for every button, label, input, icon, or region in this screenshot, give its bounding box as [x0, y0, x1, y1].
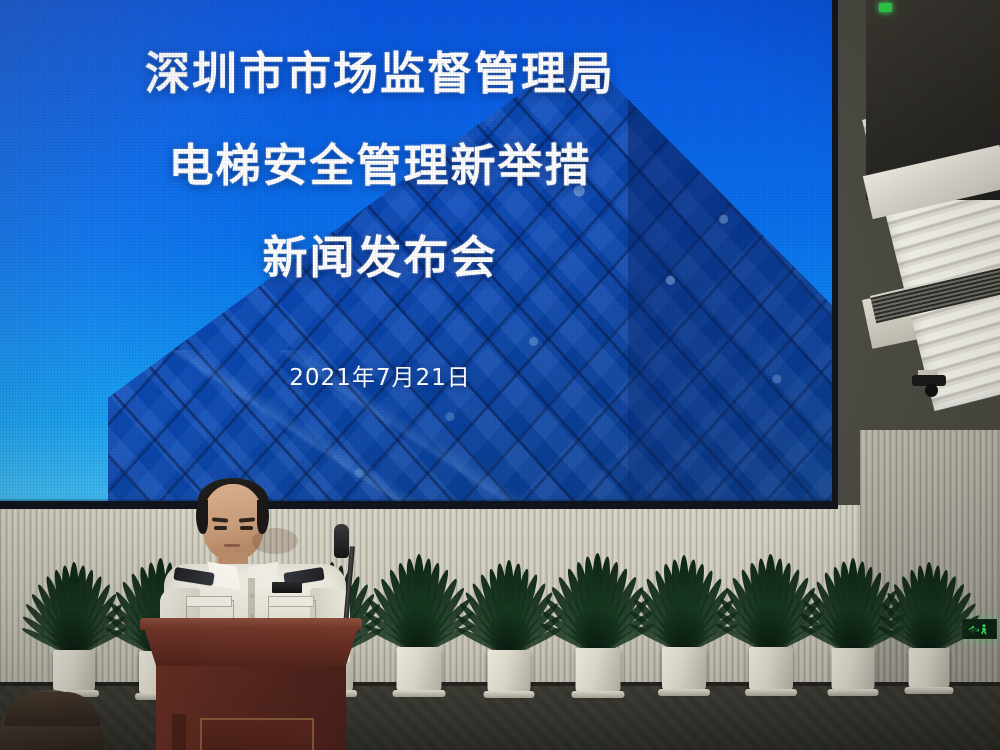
podium-front-bevel: [144, 628, 358, 668]
podium-side-shadow: [172, 714, 186, 750]
speaker-pocket-flap-left: [186, 596, 232, 607]
slide-title-line-2: 电梯安全管理新举措: [0, 140, 760, 192]
slide-title-line-3: 新闻发布会: [0, 232, 760, 284]
speaker-name-badge: [272, 582, 302, 593]
screen-bottom-shadow: [0, 498, 838, 509]
plant-pot: [488, 650, 531, 693]
plant-pot: [749, 647, 793, 691]
speaker-eye-right: [240, 526, 253, 530]
plant-pot: [909, 648, 950, 689]
speaker-pocket-flap-right: [268, 596, 314, 607]
plant-pot: [53, 650, 95, 692]
potted-plant: [548, 550, 647, 693]
potted-plant: [28, 560, 120, 692]
microphone-head: [334, 524, 349, 558]
speaker-hair-left: [196, 500, 208, 534]
plant-pot: [575, 648, 620, 693]
speaker-eye-left: [214, 526, 227, 530]
security-camera-icon: [912, 370, 946, 400]
potted-plant: [722, 552, 819, 691]
wooden-podium: [140, 618, 362, 750]
slide-title-line-1: 深圳市市场监督管理局: [0, 48, 760, 100]
camera-lens: [925, 384, 938, 397]
plant-foliage: [884, 560, 974, 652]
plant-pot: [662, 647, 706, 691]
slide-date: 2021年7月21日: [0, 358, 760, 392]
potted-plant: [370, 552, 468, 692]
plant-foliage: [28, 560, 120, 654]
plant-foliage: [548, 550, 647, 652]
speaker-head: [202, 484, 264, 560]
plant-pot: [832, 648, 875, 691]
speaker-shirt-button: [250, 594, 254, 598]
plant-pot: [397, 647, 442, 692]
screenshot-root: 深圳市市场监督管理局 电梯安全管理新举措 新闻发布会 2021年7月21日: [0, 0, 1000, 750]
potted-plant: [636, 554, 732, 691]
plant-foliage: [370, 552, 468, 652]
led-wall-screen: 深圳市市场监督管理局 电梯安全管理新举措 新闻发布会 2021年7月21日: [0, 0, 838, 509]
plant-foliage: [462, 558, 556, 654]
slide-text-block: 深圳市市场监督管理局 电梯安全管理新举措 新闻发布会 2021年7月21日: [0, 0, 838, 509]
podium-front-panel: [200, 718, 314, 750]
speaker-mouth: [224, 544, 240, 547]
green-indicator-lamp-icon: [879, 3, 892, 12]
potted-plant: [884, 560, 974, 689]
plant-foliage: [636, 553, 732, 651]
